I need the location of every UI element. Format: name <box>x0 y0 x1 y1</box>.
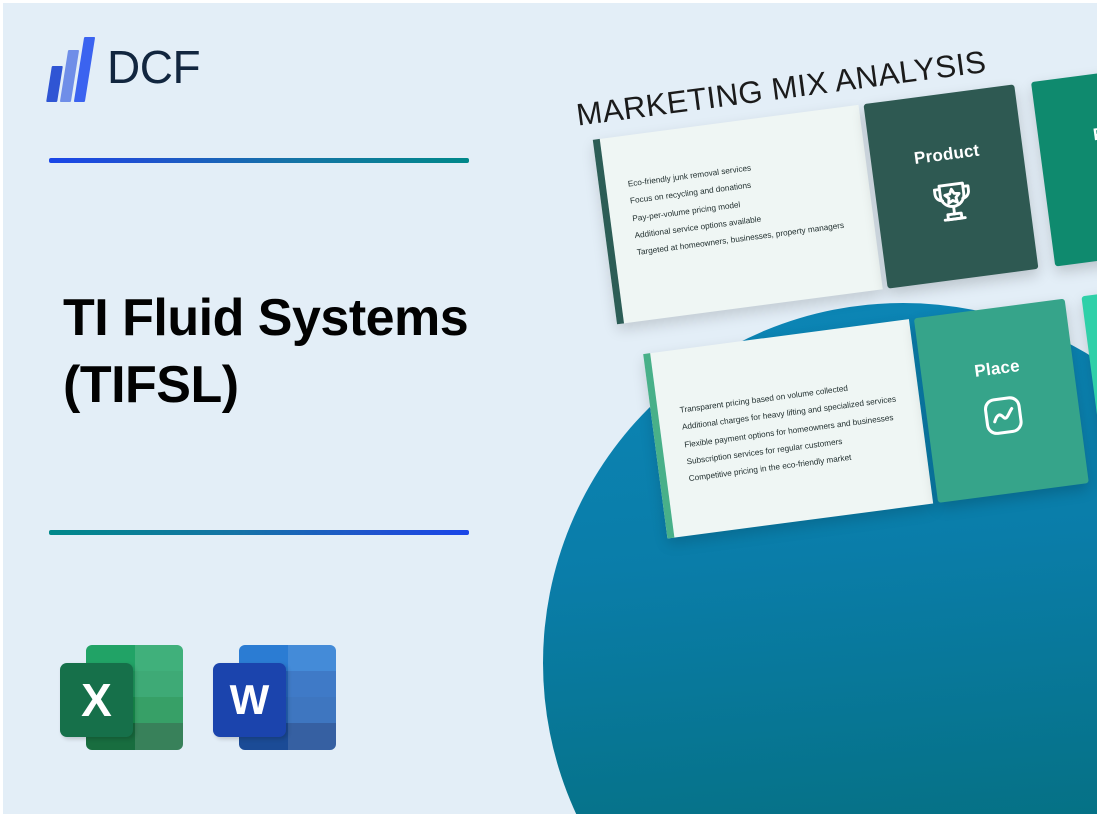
brand-logo[interactable]: DCF <box>49 36 200 102</box>
divider-top <box>49 158 469 163</box>
trend-line-square-icon <box>973 385 1034 446</box>
page-title: TI Fluid Systems (TIFSL) <box>63 285 523 418</box>
trophy-icon <box>923 171 984 232</box>
brand-name: DCF <box>107 44 200 94</box>
left-panel: DCF TI Fluid Systems (TIFSL) X W <box>3 3 543 817</box>
place-label: Place <box>973 356 1021 382</box>
word-icon-highlight <box>288 645 336 750</box>
divider-bottom <box>49 530 469 535</box>
bar-chart-logo-icon <box>49 36 95 102</box>
product-label: Product <box>913 141 981 169</box>
word-icon-letter: W <box>213 663 286 737</box>
logo-bar-3 <box>74 37 95 102</box>
chain-link-icon <box>1090 149 1100 210</box>
place-text-card: Transparent pricing based on volume coll… <box>643 319 933 538</box>
page-title-line-1: TI Fluid Systems <box>63 285 523 352</box>
excel-icon[interactable]: X <box>60 636 183 759</box>
excel-icon-letter: X <box>60 663 133 737</box>
marketing-mix-row-2: Transparent pricing based on volume coll… <box>643 277 1100 539</box>
place-label-card[interactable]: Place <box>914 299 1089 503</box>
slide-cover: DCF TI Fluid Systems (TIFSL) X W <box>0 0 1100 817</box>
marketing-mix-graphic: MARKETING MIX ANALYSIS Eco-friendly junk… <box>523 3 1100 817</box>
product-label-card[interactable]: Product <box>863 84 1038 288</box>
marketing-mix-stage: MARKETING MIX ANALYSIS Eco-friendly junk… <box>523 3 1100 817</box>
product-text-card: Eco-friendly junk removal services Focus… <box>593 105 883 324</box>
page-title-line-2: (TIFSL) <box>63 352 523 419</box>
product-bullet-list: Eco-friendly junk removal services Focus… <box>600 105 883 323</box>
excel-icon-highlight <box>135 645 183 750</box>
price-label: Price <box>1092 120 1100 145</box>
place-bullet-list: Transparent pricing based on volume coll… <box>650 319 933 537</box>
file-format-icons: X W <box>60 636 336 759</box>
word-icon[interactable]: W <box>213 636 336 759</box>
